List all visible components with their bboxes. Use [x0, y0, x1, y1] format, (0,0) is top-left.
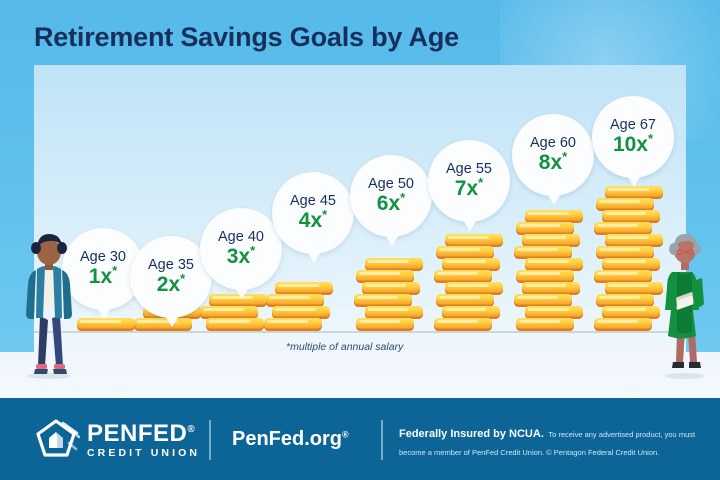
ncua-notice: Federally Insured by NCUA.: [399, 428, 544, 440]
ground-line: [34, 331, 686, 333]
site-url-link[interactable]: PenFed.org®: [232, 428, 349, 451]
page-title: Retirement Savings Goals by Age: [34, 22, 459, 53]
young-woman-illustration: [16, 228, 82, 380]
age-bubble: Age 608x*: [512, 114, 594, 196]
coin: [434, 318, 492, 331]
bubble-age-label: Age 67: [610, 118, 656, 133]
bubble-age-label: Age 45: [290, 194, 336, 209]
coin-stack: [440, 235, 503, 331]
bubble-multiple-label: 2x*: [157, 272, 185, 296]
footnote-text: *multiple of annual salary: [286, 341, 403, 353]
bubble-age-label: Age 35: [148, 258, 194, 273]
coin: [516, 318, 574, 331]
bubble-multiple-label: 8x*: [539, 150, 567, 174]
coin-stack: [204, 295, 267, 331]
age-bubble: Age 6710x*: [592, 96, 674, 178]
bubble-multiple-label: 1x*: [89, 264, 117, 288]
penfed-pentagon-icon: [36, 419, 80, 461]
chart-panel-baseboard: [0, 352, 720, 398]
coin: [264, 318, 322, 331]
bubble-age-label: Age 55: [446, 162, 492, 177]
bubble-multiple-label: 10x*: [613, 132, 653, 156]
bubble-age-label: Age 60: [530, 136, 576, 151]
chart-panel: [34, 65, 686, 385]
coin: [356, 318, 414, 331]
footer-divider-1: [209, 420, 211, 460]
footer-divider-2: [381, 420, 383, 460]
bubble-multiple-label: 6x*: [377, 191, 405, 215]
coin-stack: [600, 187, 663, 331]
bubble-multiple-label: 3x*: [227, 244, 255, 268]
penfed-logo[interactable]: PENFED® CREDIT UNION: [36, 419, 200, 461]
older-woman-illustration: [655, 228, 715, 380]
coin-stack: [270, 283, 333, 331]
coin: [77, 318, 135, 331]
age-bubble: Age 403x*: [200, 208, 282, 290]
brand-subtitle: CREDIT UNION: [87, 448, 200, 459]
coin: [206, 318, 264, 331]
coin: [594, 318, 652, 331]
bubble-age-label: Age 50: [368, 177, 414, 192]
bubble-multiple-label: 4x*: [299, 208, 327, 232]
bubble-age-label: Age 40: [218, 230, 264, 245]
legal-disclosure: Federally Insured by NCUA. To receive an…: [399, 424, 699, 460]
infographic-canvas: Retirement Savings Goals by Age Age 301x…: [0, 0, 720, 480]
bubble-age-label: Age 30: [80, 250, 126, 265]
coin-stack: [360, 259, 423, 331]
age-bubble: Age 557x*: [428, 140, 510, 222]
age-bubble: Age 454x*: [272, 172, 354, 254]
coin-stack: [520, 211, 583, 331]
coin: [134, 318, 192, 331]
brand-name: PENFED®: [87, 422, 200, 446]
bubble-multiple-label: 7x*: [455, 176, 483, 200]
age-bubble: Age 506x*: [350, 155, 432, 237]
